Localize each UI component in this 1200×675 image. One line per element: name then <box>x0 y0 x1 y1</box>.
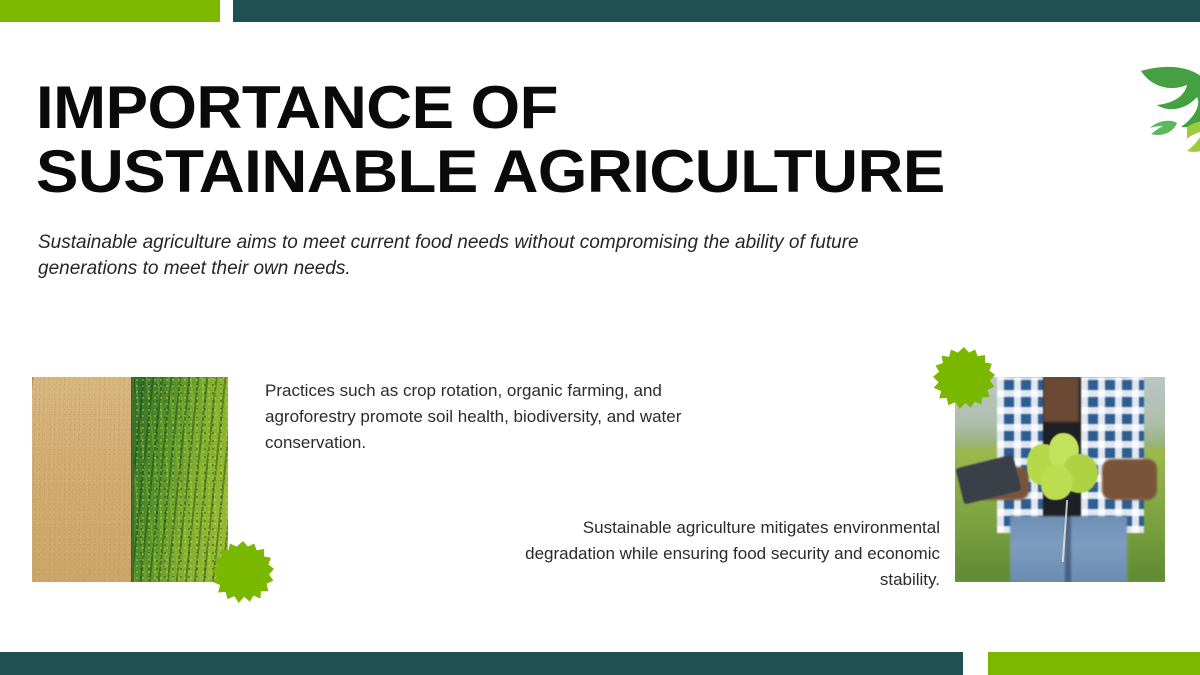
aerial-field-photo <box>32 377 228 582</box>
farmer-photo <box>955 377 1165 582</box>
lettuce-seedling <box>1022 430 1106 508</box>
farmer-neck <box>1043 377 1079 422</box>
leaf-logo-icon <box>1117 57 1200 162</box>
farmer-jeans <box>1010 516 1128 582</box>
body-paragraph-left: Practices such as crop rotation, organic… <box>265 378 745 456</box>
page-title: IMPORTANCE OF SUSTAINABLE AGRICULTURE <box>36 76 936 204</box>
farmer-arm-right <box>1102 459 1157 500</box>
top-teal-accent-bar <box>233 0 1200 22</box>
title-line-2: SUSTAINABLE AGRICULTURE <box>36 140 990 204</box>
top-green-accent-bar <box>0 0 220 22</box>
starburst-badge-left <box>212 541 274 603</box>
slide: IMPORTANCE OF SUSTAINABLE AGRICULTURE Su… <box>0 0 1200 675</box>
wheat-field-half <box>32 377 134 582</box>
crop-field-half <box>134 377 228 582</box>
bottom-green-accent-bar <box>988 652 1200 675</box>
body-paragraph-right: Sustainable agriculture mitigates enviro… <box>500 515 940 593</box>
bottom-teal-accent-bar <box>0 652 963 675</box>
title-line-1: IMPORTANCE OF <box>36 76 990 140</box>
subtitle-text: Sustainable agriculture aims to meet cur… <box>38 230 908 282</box>
